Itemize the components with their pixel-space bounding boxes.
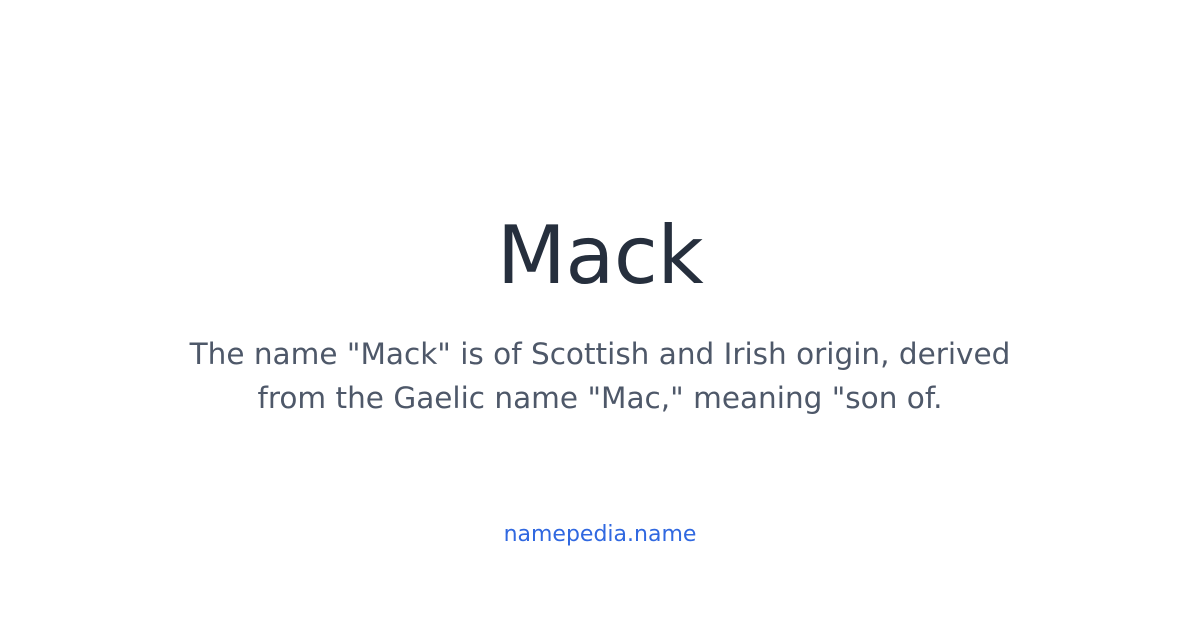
- page-title-container: Mack: [0, 208, 1200, 304]
- name-description: The name "Mack" is of Scottish and Irish…: [100, 332, 1100, 420]
- name-description-container: The name "Mack" is of Scottish and Irish…: [100, 332, 1100, 420]
- footer-container: namepedia.name: [0, 520, 1200, 550]
- description-line-2: from the Gaelic name "Mac," meaning "son…: [100, 376, 1100, 420]
- page-title: Mack: [0, 208, 1200, 304]
- site-link[interactable]: namepedia.name: [504, 522, 697, 547]
- og-preview-card: Mack The name "Mack" is of Scottish and …: [0, 0, 1200, 630]
- description-line-1: The name "Mack" is of Scottish and Irish…: [100, 332, 1100, 376]
